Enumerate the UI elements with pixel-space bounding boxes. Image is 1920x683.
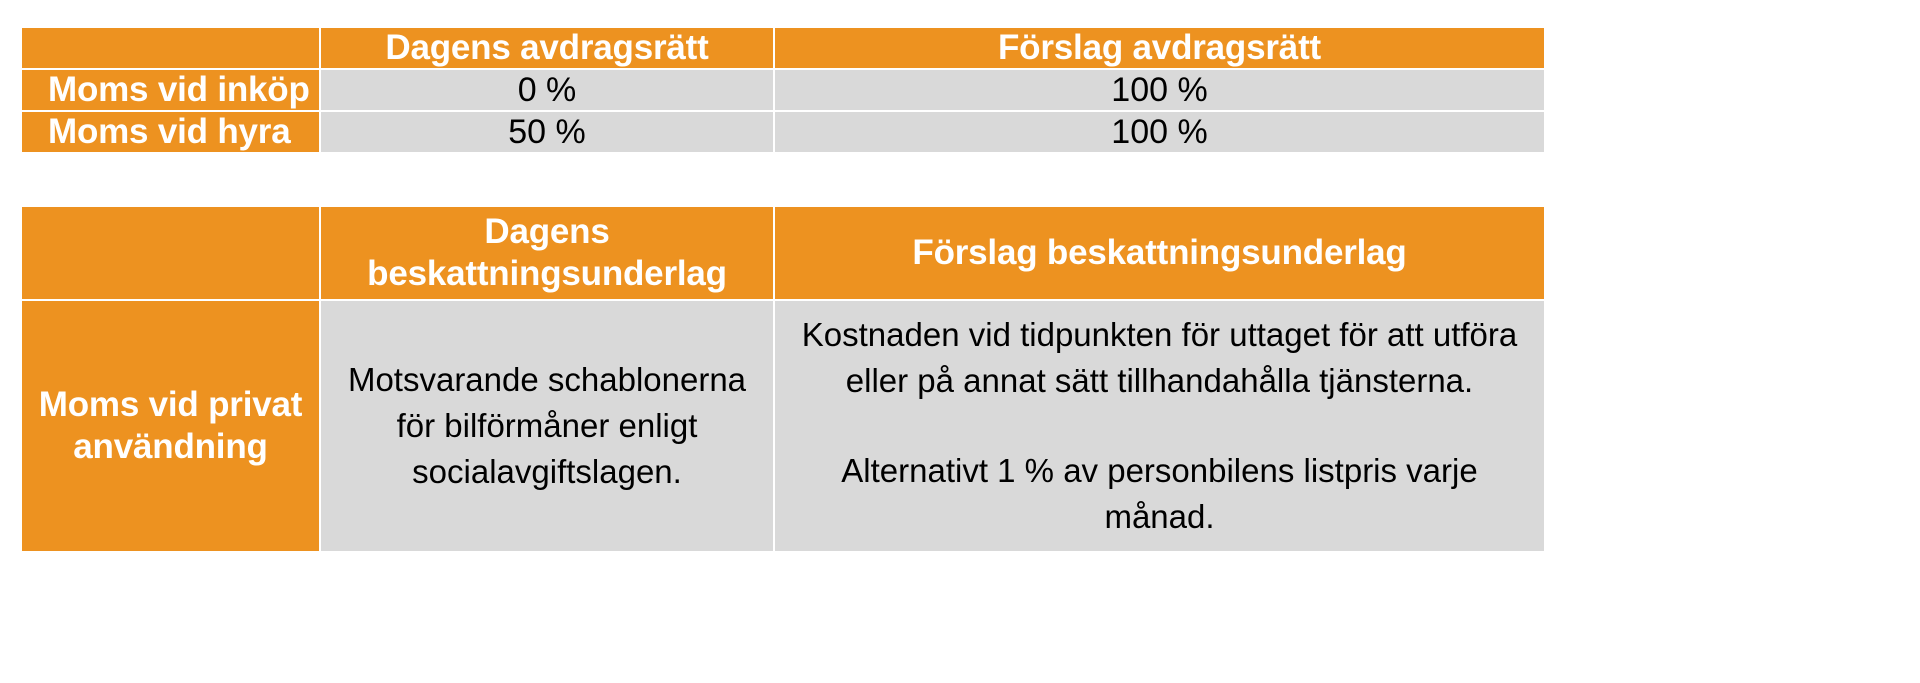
table-header-row: Dagens beskattningsunderlag Förslag besk…	[22, 207, 1544, 299]
row-label-moms-vid-hyra: Moms vid hyra	[22, 112, 319, 152]
cell-inkop-forslag: 100 %	[775, 70, 1544, 110]
corner-cell	[22, 207, 319, 299]
table-row: Moms vid privat användning Motsvarande s…	[22, 301, 1544, 551]
column-header-dagens-beskattningsunderlag: Dagens beskattningsunderlag	[321, 207, 773, 299]
corner-cell	[22, 28, 319, 68]
forslag-paragraph-1: Kostnaden vid tidpunkten för uttaget för…	[793, 312, 1526, 404]
table-row: Moms vid inköp 0 % 100 %	[22, 70, 1544, 110]
avdragsratt-table: Dagens avdragsrätt Förslag avdragsrätt M…	[20, 26, 1546, 154]
cell-hyra-forslag: 100 %	[775, 112, 1544, 152]
table-header-row: Dagens avdragsrätt Förslag avdragsrätt	[22, 28, 1544, 68]
row-label-moms-vid-privat-anvandning: Moms vid privat användning	[22, 301, 319, 551]
cell-hyra-dagens: 50 %	[321, 112, 773, 152]
cell-inkop-dagens: 0 %	[321, 70, 773, 110]
column-header-dagens-avdragsratt: Dagens avdragsrätt	[321, 28, 773, 68]
forslag-paragraph-2: Alternativt 1 % av personbilens listpris…	[793, 448, 1526, 540]
column-header-forslag-avdragsratt: Förslag avdragsrätt	[775, 28, 1544, 68]
row-label-moms-vid-inkop: Moms vid inköp	[22, 70, 319, 110]
slide-canvas: Dagens avdragsrätt Förslag avdragsrätt M…	[0, 0, 1920, 683]
table-row: Moms vid hyra 50 % 100 %	[22, 112, 1544, 152]
cell-privat-dagens: Motsvarande schablonerna för bilförmåner…	[321, 301, 773, 551]
column-header-forslag-beskattningsunderlag: Förslag beskattningsunderlag	[775, 207, 1544, 299]
cell-privat-forslag: Kostnaden vid tidpunkten för uttaget för…	[775, 301, 1544, 551]
beskattningsunderlag-table: Dagens beskattningsunderlag Förslag besk…	[20, 205, 1546, 553]
